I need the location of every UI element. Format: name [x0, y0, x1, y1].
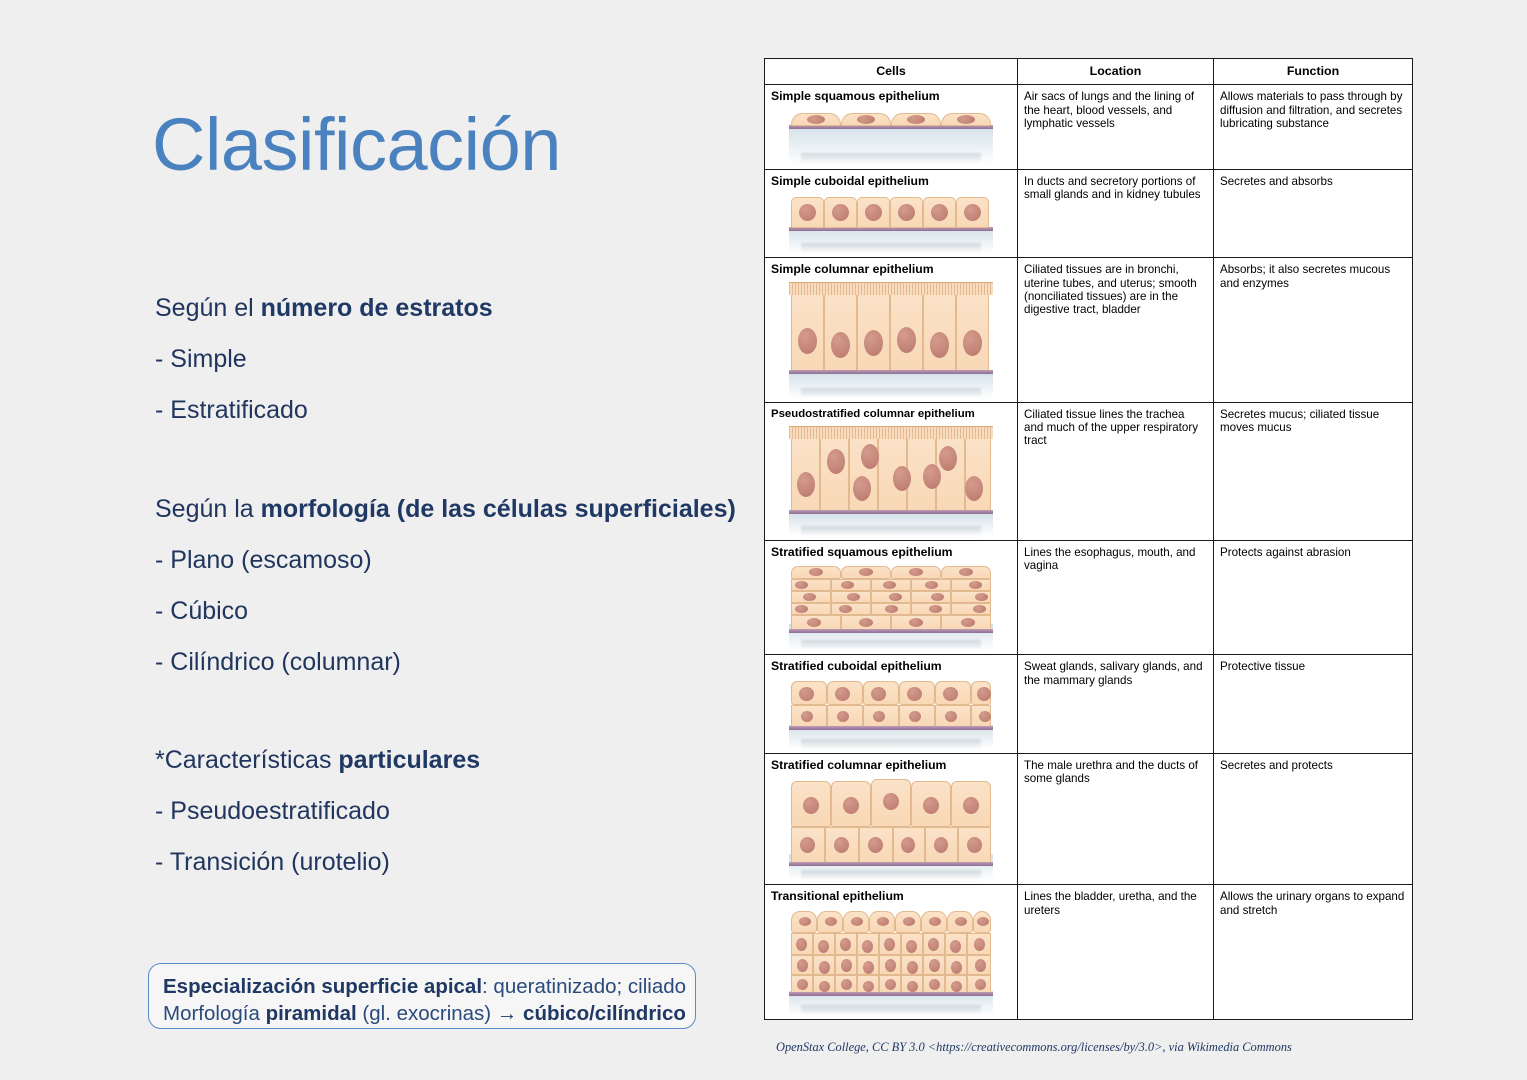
- group-lead-2: Según la morfología (de las células supe…: [155, 497, 736, 522]
- function-cell: Protective tissue: [1214, 655, 1413, 753]
- cell-type-label: Stratified squamous epithelium: [771, 546, 1011, 559]
- function-cell: Allows the urinary organs to expand and …: [1214, 885, 1413, 1019]
- stratified-squamous-diagram: [789, 562, 993, 650]
- cell-type-label: Simple columnar epithelium: [771, 263, 1011, 276]
- epithelium-table-container: Cells Location Function Simple squamous …: [764, 58, 1385, 1020]
- table-row: Simple squamous epithelium Air sacs of l…: [765, 85, 1413, 169]
- callout-line-1-bold: Especialización superficie apical: [163, 975, 482, 998]
- location-cell: Lines the esophagus, mouth, and vagina: [1018, 541, 1214, 655]
- callout-line-1-rest: : queratinizado; ciliado: [482, 975, 686, 998]
- attribution-note: OpenStax College, CC BY 3.0 <https://cre…: [776, 1040, 1292, 1055]
- transitional-diagram: [789, 907, 993, 1015]
- cell-type-label: Pseudostratified columnar epithelium: [771, 408, 1011, 421]
- bullet-group-estratos: Según el número de estratos - Simple - E…: [155, 296, 493, 449]
- table-row: Stratified squamous epithelium: [765, 541, 1413, 655]
- location-cell: Lines the bladder, uretha, and the urete…: [1018, 885, 1214, 1019]
- group-lead-1-plain: Según el: [155, 294, 261, 322]
- function-cell: Protects against abrasion: [1214, 541, 1413, 655]
- callout-line-2-bold2: cúbico/cilíndrico: [517, 1002, 686, 1025]
- cell-type-stratified-columnar: Stratified columnar epithelium: [765, 753, 1018, 884]
- callout-line-1: Especialización superficie apical: quera…: [163, 973, 695, 1000]
- group-lead-3-plain: *Características: [155, 746, 338, 774]
- cell-type-label: Stratified columnar epithelium: [771, 759, 1011, 772]
- group-lead-1-bold: número de estratos: [261, 294, 493, 322]
- cell-type-label: Simple cuboidal epithelium: [771, 175, 1011, 188]
- table-row: Stratified columnar epithelium: [765, 753, 1413, 884]
- simple-cuboidal-diagram: [789, 191, 993, 253]
- cell-type-simple-columnar: Simple columnar epithelium: [765, 258, 1018, 402]
- function-cell: Secretes and absorbs: [1214, 169, 1413, 257]
- stratified-cuboidal-diagram: [789, 677, 993, 749]
- cell-type-simple-squamous: Simple squamous epithelium: [765, 85, 1018, 169]
- bullet-group-particulares: *Características particulares - Pseudoes…: [155, 748, 480, 901]
- table-row: Simple columnar epithelium Ciliat: [765, 258, 1413, 402]
- cell-type-stratified-squamous: Stratified squamous epithelium: [765, 541, 1018, 655]
- list-item: - Simple: [155, 347, 493, 372]
- epithelium-table: Cells Location Function Simple squamous …: [764, 58, 1413, 1020]
- pseudostratified-columnar-diagram: [789, 424, 993, 536]
- callout-line-2-bold: piramidal: [266, 1002, 357, 1025]
- location-cell: In ducts and secretory portions of small…: [1018, 169, 1214, 257]
- function-cell: Absorbs; it also secretes mucous and enz…: [1214, 258, 1413, 402]
- table-row: Stratified cuboidal epithelium: [765, 655, 1413, 753]
- simple-squamous-diagram: [789, 107, 993, 165]
- function-cell: Secretes mucus; ciliated tissue moves mu…: [1214, 402, 1413, 540]
- column-header-cells: Cells: [765, 59, 1018, 85]
- location-cell: The male urethra and the ducts of some g…: [1018, 753, 1214, 884]
- bullet-group-morfologia: Según la morfología (de las células supe…: [155, 497, 736, 701]
- group-lead-2-bold: morfología (de las células superficiales…: [261, 495, 736, 523]
- cell-type-simple-cuboidal: Simple cuboidal epithelium: [765, 169, 1018, 257]
- group-lead-1: Según el número de estratos: [155, 296, 493, 321]
- stratified-columnar-diagram: [789, 775, 993, 880]
- callout-box: Especialización superficie apical: quera…: [148, 963, 696, 1029]
- cell-type-stratified-cuboidal: Stratified cuboidal epithelium: [765, 655, 1018, 753]
- location-cell: Air sacs of lungs and the lining of the …: [1018, 85, 1214, 169]
- callout-line-2-b: (gl. exocrinas): [357, 1002, 497, 1025]
- list-item: - Cúbico: [155, 599, 736, 624]
- table-row: Pseudostratified columnar epithelium: [765, 402, 1413, 540]
- page-title: Clasificación: [152, 108, 561, 182]
- list-item: - Estratificado: [155, 398, 493, 423]
- arrow-right-icon: →: [497, 1002, 518, 1025]
- table-header-row: Cells Location Function: [765, 59, 1413, 85]
- column-header-location: Location: [1018, 59, 1214, 85]
- column-header-function: Function: [1214, 59, 1413, 85]
- function-cell: Secretes and protects: [1214, 753, 1413, 884]
- location-cell: Ciliated tissues are in bronchi, uterine…: [1018, 258, 1214, 402]
- callout-line-2-a: Morfología: [163, 1002, 266, 1025]
- slide-left-pane: Clasificación Según el número de estrato…: [0, 0, 760, 1080]
- function-cell: Allows materials to pass through by diff…: [1214, 85, 1413, 169]
- callout-line-2: Morfología piramidal (gl. exocrinas) → c…: [163, 1000, 695, 1027]
- list-item: - Plano (escamoso): [155, 548, 736, 573]
- group-lead-2-plain: Según la: [155, 495, 261, 523]
- group-lead-3-bold: particulares: [338, 746, 480, 774]
- cell-type-transitional: Transitional epithelium: [765, 885, 1018, 1019]
- group-lead-3: *Características particulares: [155, 748, 480, 773]
- table-row: Simple cuboidal epithelium In ducts and …: [765, 169, 1413, 257]
- cell-type-pseudostratified-columnar: Pseudostratified columnar epithelium: [765, 402, 1018, 540]
- list-item: - Cilíndrico (columnar): [155, 650, 736, 675]
- location-cell: Sweat glands, salivary glands, and the m…: [1018, 655, 1214, 753]
- cell-type-label: Simple squamous epithelium: [771, 90, 1011, 103]
- list-item: - Pseudoestratificado: [155, 799, 480, 824]
- simple-columnar-diagram: [789, 280, 993, 398]
- table-row: Transitional epithelium: [765, 885, 1413, 1019]
- cell-type-label: Stratified cuboidal epithelium: [771, 660, 1011, 673]
- cell-type-label: Transitional epithelium: [771, 890, 1011, 903]
- list-item: - Transición (urotelio): [155, 850, 480, 875]
- location-cell: Ciliated tissue lines the trachea and mu…: [1018, 402, 1214, 540]
